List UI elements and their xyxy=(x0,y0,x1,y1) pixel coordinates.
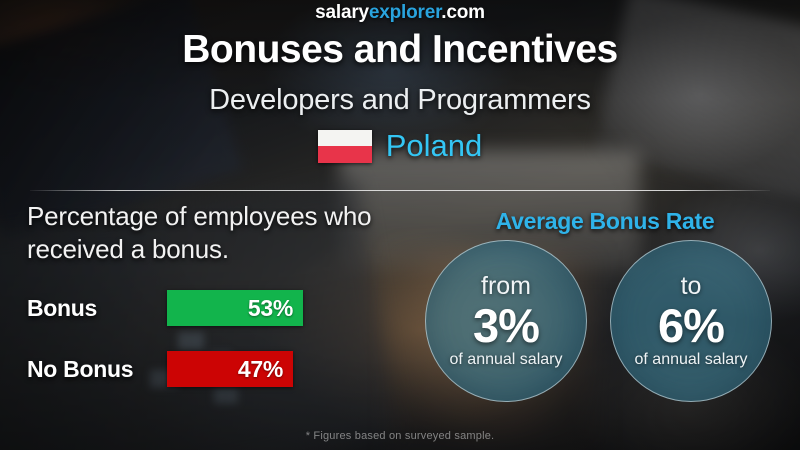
bar-label-bonus: Bonus xyxy=(27,295,167,322)
bar-row-bonus: Bonus 53% xyxy=(27,290,327,326)
page-subtitle: Developers and Programmers xyxy=(0,84,800,117)
bar-value-bonus: 53% xyxy=(248,295,303,322)
bonus-rate-to-value: 6% xyxy=(658,301,724,350)
header-divider xyxy=(30,190,770,191)
bonus-rate-from-prefix: from xyxy=(481,274,531,299)
bonus-rate-from-value: 3% xyxy=(473,301,539,350)
flag-stripe-red xyxy=(318,146,372,163)
country-row: Poland xyxy=(0,128,800,164)
page-title: Bonuses and Incentives xyxy=(0,28,800,72)
country-name: Poland xyxy=(386,128,483,164)
poland-flag-icon xyxy=(318,130,372,163)
average-bonus-rate-heading: Average Bonus Rate xyxy=(440,208,770,235)
bar-value-no-bonus: 47% xyxy=(238,356,293,383)
logo-text-salary: salary xyxy=(315,2,369,23)
bonus-rate-circle-to: to 6% of annual salary xyxy=(610,240,772,402)
bar-label-no-bonus: No Bonus xyxy=(27,356,167,383)
bonus-rate-to-suffix: of annual salary xyxy=(635,352,748,368)
bar-row-no-bonus: No Bonus 47% xyxy=(27,351,327,387)
bonus-rate-circle-from: from 3% of annual salary xyxy=(425,240,587,402)
infographic-root: salaryexplorer.com Bonuses and Incentive… xyxy=(0,0,800,450)
bonus-chart-caption: Percentage of employees who received a b… xyxy=(27,200,427,266)
logo-text-explorer: explorer xyxy=(369,2,441,23)
bar-fill-bonus: 53% xyxy=(167,290,303,326)
bar-fill-no-bonus: 47% xyxy=(167,351,293,387)
site-logo: salaryexplorer.com xyxy=(0,2,800,24)
logo-text-com: .com xyxy=(441,2,485,23)
bonus-rate-from-suffix: of annual salary xyxy=(450,352,563,368)
bar-track-no-bonus: 47% xyxy=(167,351,327,387)
flag-stripe-white xyxy=(318,130,372,147)
footnote: * Figures based on surveyed sample. xyxy=(0,430,800,442)
bonus-rate-to-prefix: to xyxy=(681,274,702,299)
bar-track-bonus: 53% xyxy=(167,290,327,326)
infographic-content: salaryexplorer.com Bonuses and Incentive… xyxy=(0,0,800,450)
